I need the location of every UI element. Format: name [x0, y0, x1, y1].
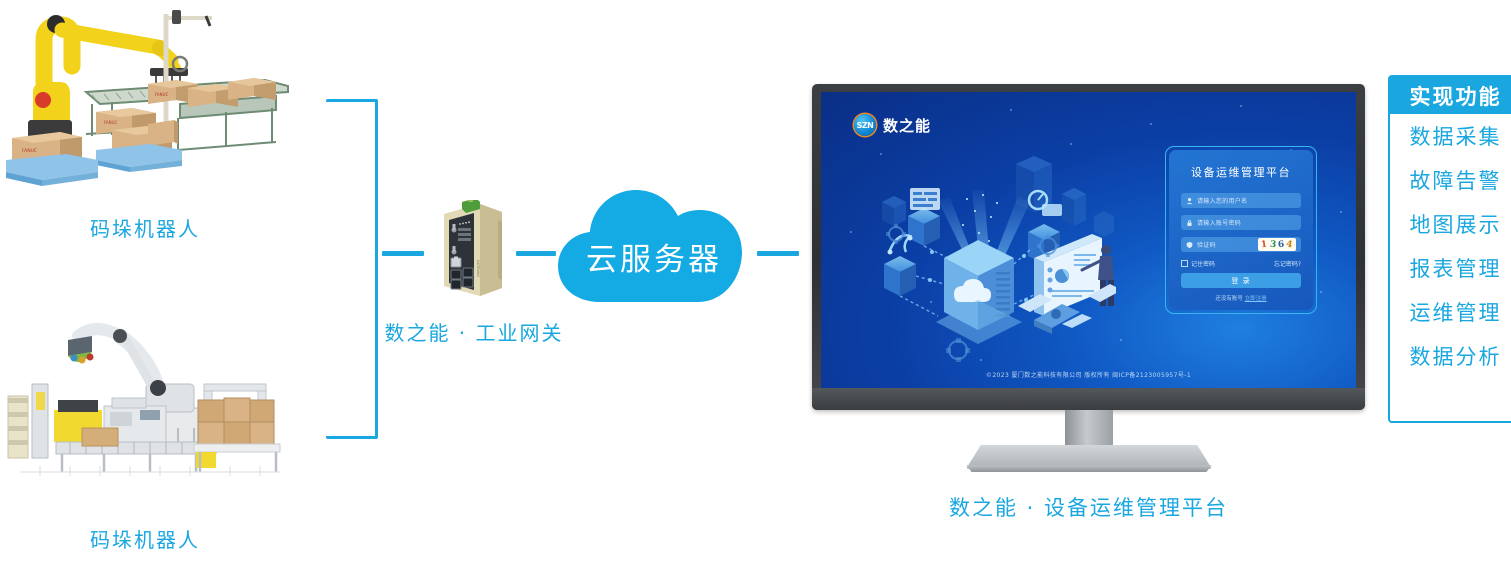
- username-placeholder: 请输入您的用户名: [1197, 196, 1247, 205]
- svg-text:FANUC: FANUC: [104, 120, 118, 125]
- monitor-stand-base-edge: [964, 465, 1214, 472]
- gateway-caption: 数之能 · 工业网关: [382, 317, 566, 346]
- login-submit-button[interactable]: 登 录: [1181, 273, 1301, 288]
- remember-label: 记住密码: [1191, 259, 1215, 268]
- features-panel-header: 实现功能: [1390, 77, 1511, 114]
- iot-isometric-illustration: [866, 154, 1116, 369]
- captcha-field[interactable]: 验证码 1364: [1181, 237, 1301, 252]
- feature-item-data-analysis[interactable]: 数据分析: [1390, 334, 1511, 378]
- feature-item-ops-management[interactable]: 运维管理: [1390, 290, 1511, 334]
- szn-logo-icon: SZN: [854, 114, 876, 136]
- user-icon: [1186, 197, 1193, 205]
- login-title: 设备运维管理平台: [1181, 164, 1301, 180]
- robot-illustration-top: FANUC FANUC: [0, 0, 290, 190]
- monitor-stand-neck: [1065, 410, 1113, 450]
- lock-icon: [1186, 219, 1193, 227]
- forgot-password-link[interactable]: 忘记密码?: [1274, 259, 1301, 268]
- monitor-screen: SZN 数之能: [821, 92, 1356, 388]
- feature-item-data-collection[interactable]: 数据采集: [1390, 114, 1511, 158]
- register-prompt: 还没有账号: [1215, 296, 1243, 302]
- palletizing-robot-photo-top: FANUC FANUC: [0, 0, 290, 190]
- feature-item-map-display[interactable]: 地图展示: [1390, 202, 1511, 246]
- login-options-row: 记住密码 忘记密码?: [1181, 259, 1301, 268]
- captcha-placeholder: 验证码: [1197, 240, 1216, 249]
- gateway-illustration: GATEWAY: [430, 200, 512, 300]
- monitor-caption: 数之能 · 设备运维管理平台: [812, 492, 1365, 522]
- remember-password-option[interactable]: 记住密码: [1181, 259, 1215, 268]
- szn-logo-mark: SZN: [857, 121, 874, 130]
- shield-icon: [1186, 241, 1193, 249]
- captcha-image[interactable]: 1364: [1258, 238, 1296, 251]
- palletizing-robot-bottom-caption: 码垛机器人: [0, 524, 290, 553]
- login-card: 设备运维管理平台 请输入您的用户名 请输入账号密码: [1165, 146, 1317, 314]
- login-card-inner: 设备运维管理平台 请输入您的用户名 请输入账号密码: [1169, 150, 1313, 310]
- features-panel: 实现功能 数据采集 故障告警 地图展示 报表管理 运维管理 数据分析: [1388, 75, 1511, 423]
- feature-item-fault-alarm[interactable]: 故障告警: [1390, 158, 1511, 202]
- connector-dash-gateway-cloud: [516, 251, 556, 256]
- monitor-device: SZN 数之能: [812, 84, 1365, 424]
- monitor-chin: [812, 388, 1365, 410]
- palletizing-robot-top-caption: 码垛机器人: [0, 213, 290, 242]
- svg-text:FANUC: FANUC: [155, 92, 169, 97]
- username-field[interactable]: 请输入您的用户名: [1181, 193, 1301, 208]
- register-link[interactable]: 立即注册: [1245, 296, 1267, 302]
- group-bracket-connector: [326, 99, 378, 439]
- feature-item-report-management[interactable]: 报表管理: [1390, 246, 1511, 290]
- palletizing-robot-photo-bottom: [0, 300, 290, 480]
- robot-illustration-bottom: [0, 300, 290, 480]
- svg-text:FANUC: FANUC: [22, 148, 37, 154]
- screen-logo: SZN 数之能: [854, 114, 931, 136]
- screen-footer-copyright: ©2023 厦门数之能科技有限公司 版权所有 闽ICP备2123005957号-…: [821, 370, 1356, 379]
- connector-dash-cloud-monitor: [757, 251, 799, 256]
- password-placeholder: 请输入账号密码: [1197, 218, 1241, 227]
- cloud-server-node: 云服务器: [556, 178, 752, 308]
- password-field[interactable]: 请输入账号密码: [1181, 215, 1301, 230]
- svg-text:GATEWAY: GATEWAY: [476, 260, 480, 278]
- cloud-server-label: 云服务器: [556, 234, 752, 279]
- register-row: 还没有账号 立即注册: [1181, 294, 1301, 302]
- remember-checkbox[interactable]: [1181, 260, 1188, 267]
- screen-logo-text: 数之能: [883, 115, 931, 136]
- connector-dash-bracket-gateway: [382, 251, 424, 256]
- industrial-gateway-device: GATEWAY: [430, 200, 512, 300]
